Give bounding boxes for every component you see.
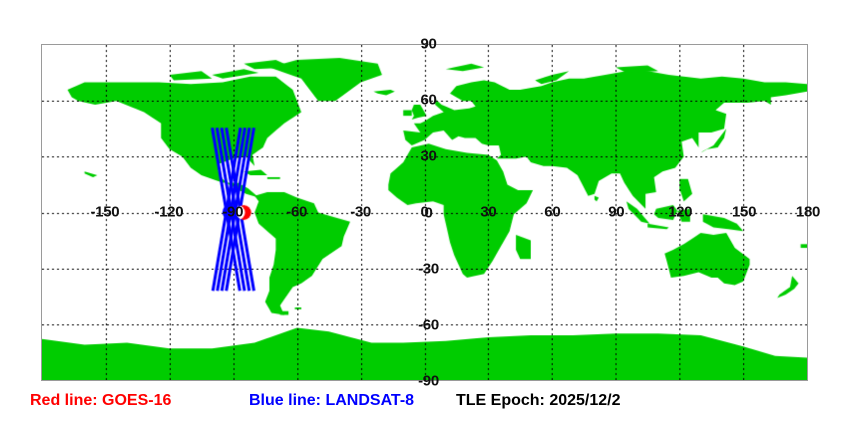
legend-blue-line-landsat8: Blue line: LANDSAT-8 [249, 392, 414, 410]
satellite-tracking-map: 9060300-30-60-90-300306090120150180-150-… [0, 0, 850, 425]
legend-tle-epoch: TLE Epoch: 2025/12/2 [456, 392, 621, 410]
legend-red-line-goes16: Red line: GOES-16 [30, 392, 171, 410]
world-map-frame[interactable] [41, 44, 808, 381]
world-map-canvas[interactable] [42, 45, 807, 380]
legend-bar: Red line: GOES-16 Blue line: LANDSAT-8 T… [0, 392, 850, 422]
